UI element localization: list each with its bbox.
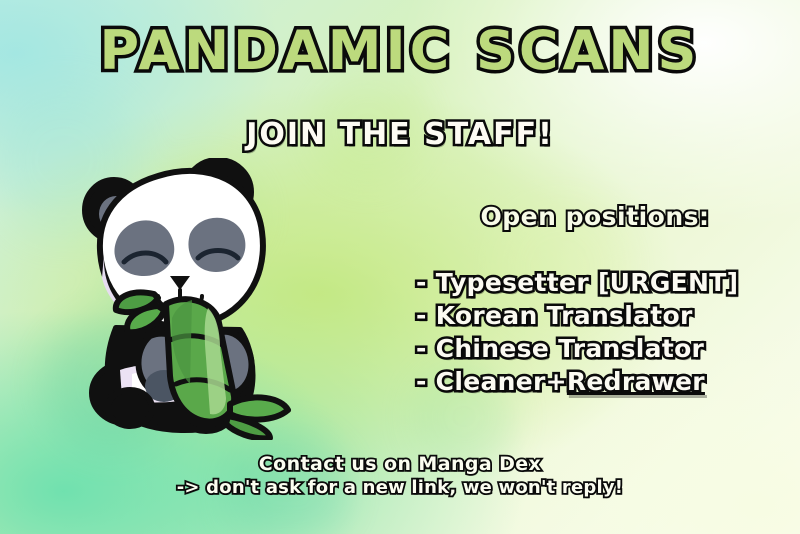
open-positions-list: - Typesetter [URGENT] - Korean Translato… [416,266,786,398]
open-positions-heading: Open positions: [400,204,790,229]
position-label: Typesetter [URGENT] [436,268,739,297]
poster-canvas: PANDAMIC SCANS JOIN THE STAFF! Open posi… [0,0,800,534]
contact-line: Contact us on Manga Dex [0,452,800,476]
contact-note: -> don't ask for a new link, we won't re… [0,476,800,500]
footer-contact: Contact us on Manga Dex -> don't ask for… [0,452,800,500]
list-item: - Chinese Translator [416,332,786,365]
position-prefix: - Cleaner+ [416,367,567,396]
list-item: - Typesetter [URGENT] [416,266,786,299]
list-item: - Cleaner+Redrawer [416,365,786,398]
position-label-emphasized: Redrawer [567,367,705,396]
position-label: Korean Translator [436,301,693,330]
page-title: PANDAMIC SCANS [0,24,800,78]
panda-eating-bamboo-icon [58,158,308,440]
position-label: Chinese Translator [436,334,705,363]
position-prefix: - [416,334,436,363]
position-prefix: - [416,301,436,330]
position-prefix: - [416,268,436,297]
subtitle-join-the-staff: JOIN THE STAFF! [0,120,800,150]
list-item: - Korean Translator [416,299,786,332]
